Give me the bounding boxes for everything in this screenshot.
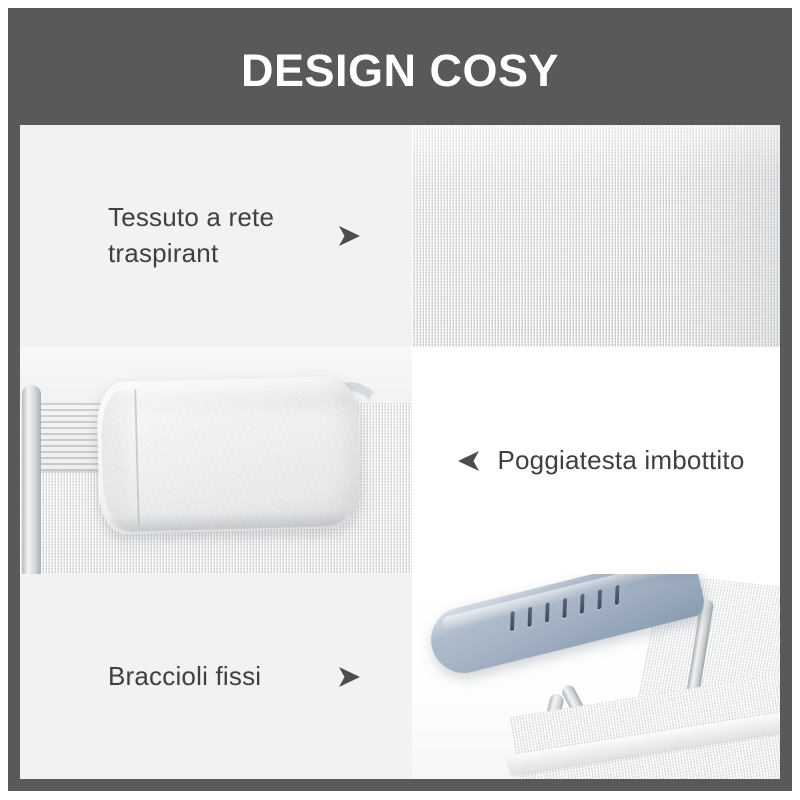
padded-headrest-photo xyxy=(20,347,412,574)
feature-label-text: Poggiatesta imbottito xyxy=(492,443,750,479)
feature-grid: Tessuto a rete traspirant xyxy=(20,125,780,779)
feature-label-cell: Tessuto a rete traspirant xyxy=(20,125,412,347)
header-banner: DESIGN COSY xyxy=(20,20,780,125)
arrow-left-icon xyxy=(454,446,484,476)
cushion-seam xyxy=(100,389,140,526)
feature-row: Poggiatesta imbottito xyxy=(20,347,780,574)
page-title: DESIGN COSY xyxy=(241,48,559,93)
feature-row: Braccioli fissi xyxy=(20,574,780,779)
feature-label-text: Tessuto a rete traspirant xyxy=(108,200,320,272)
feature-label-cell: Braccioli fissi xyxy=(20,574,412,779)
headrest-cushion xyxy=(96,376,362,535)
label-with-arrow: Poggiatesta imbottito xyxy=(412,347,780,574)
feature-label-cell: Poggiatesta imbottito xyxy=(412,347,780,574)
label-with-arrow: Tessuto a rete traspirant xyxy=(20,200,412,272)
fixed-armrest-photo xyxy=(412,574,780,779)
mesh-fabric-closeup-photo xyxy=(412,125,780,347)
arrow-right-icon xyxy=(334,221,364,251)
label-with-arrow: Braccioli fissi xyxy=(20,659,412,695)
poster-frame: DESIGN COSY Tessuto a rete traspirant xyxy=(8,8,792,791)
feature-label-text: Braccioli fissi xyxy=(108,659,320,695)
feature-row: Tessuto a rete traspirant xyxy=(20,125,780,347)
cushion-bottom-edge xyxy=(110,510,348,532)
product-feature-poster: DESIGN COSY Tessuto a rete traspirant xyxy=(0,0,800,800)
arrow-right-icon xyxy=(334,662,364,692)
frame-tube-left xyxy=(22,385,41,574)
